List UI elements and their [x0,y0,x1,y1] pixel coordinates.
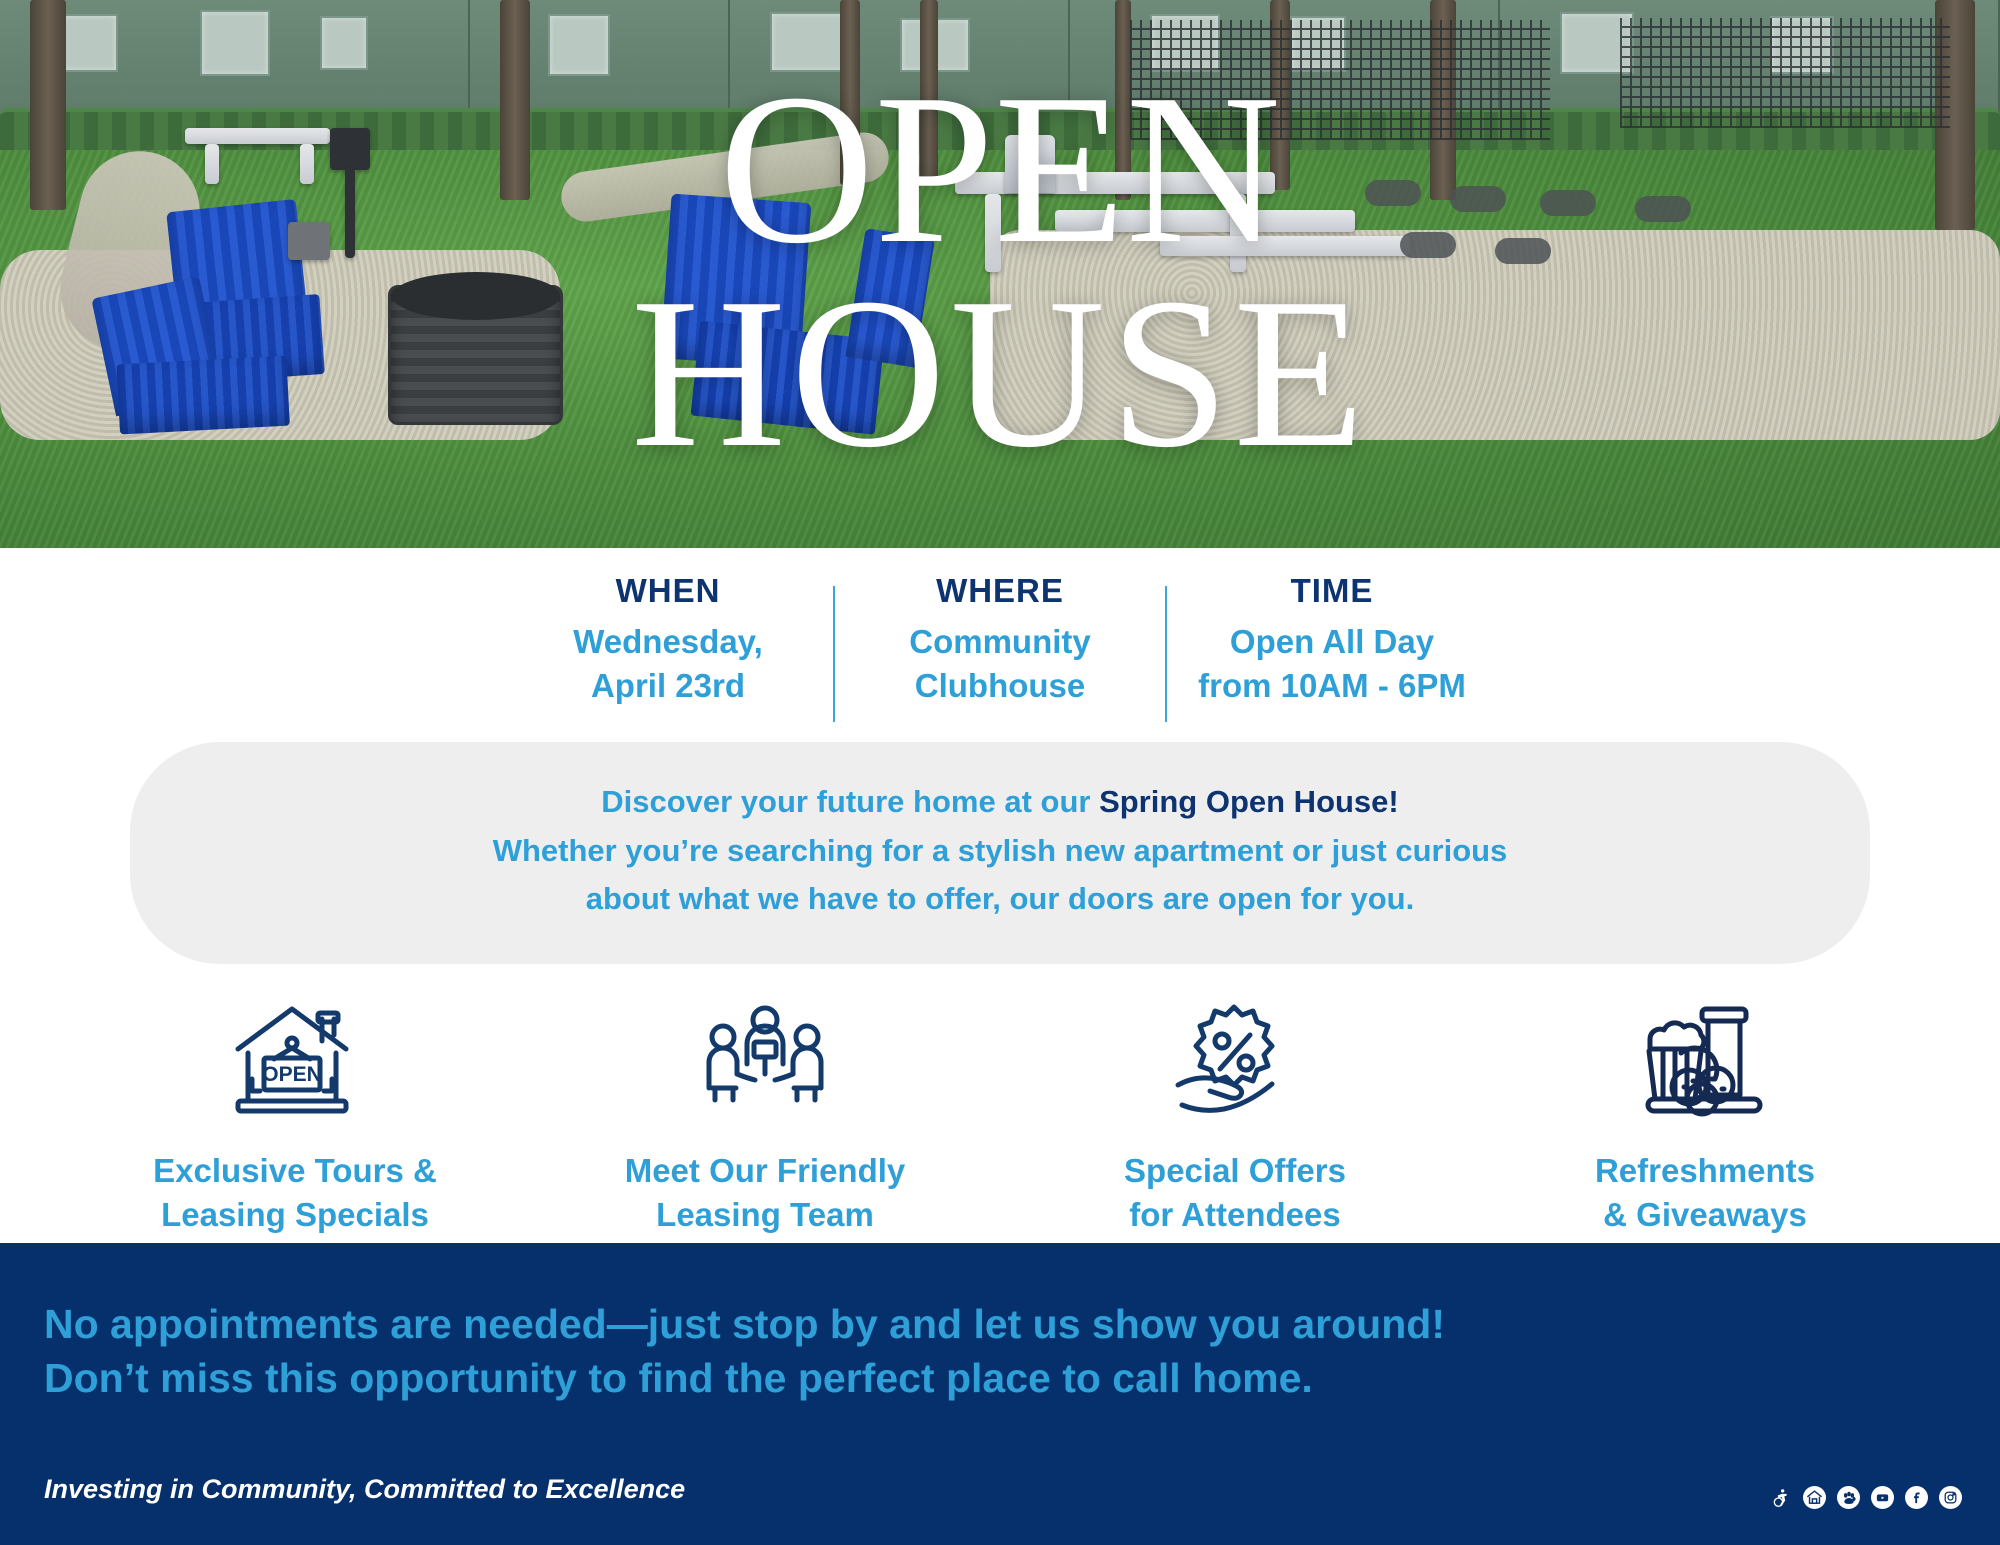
footer-cta-line-1: No appointments are needed—just stop by … [44,1297,1956,1351]
pet-friendly-paw-icon[interactable] [1837,1486,1860,1509]
blurb-line1-strong: Spring Open House! [1099,784,1399,819]
feature-line-2: & Giveaways [1595,1193,1815,1237]
facebook-icon[interactable] [1905,1486,1928,1509]
courtyard-photo [0,0,2000,548]
detail-when-line1: Wednesday, [573,620,763,664]
firepit-rim [392,272,560,320]
feature-caption: Exclusive Tours & Leasing Specials [153,1149,437,1237]
detail-where-line1: Community [909,620,1091,664]
mailbox [1005,135,1055,193]
intro-blurb: Discover your future home at our Spring … [130,742,1870,964]
feature-exclusive-tours: OPEN Exclusive Tours & Leasing Specials [60,998,530,1237]
detail-time-line2: from 10AM - 6PM [1198,664,1466,708]
feature-caption: Refreshments & Giveaways [1595,1149,1815,1237]
open-house-sign-icon: OPEN [230,998,360,1123]
detail-when-heading: WHEN [616,572,721,610]
leasing-team-people-icon [700,998,830,1123]
detail-time-heading: TIME [1291,572,1374,610]
detail-time-line1: Open All Day [1230,620,1434,664]
detail-when-line2: April 23rd [591,664,745,708]
detail-where-line2: Clubhouse [915,664,1086,708]
grill [330,128,370,170]
youtube-icon[interactable] [1871,1486,1894,1509]
feature-leasing-team: Meet Our Friendly Leasing Team [530,998,1000,1237]
blurb-line-1: Discover your future home at our Spring … [200,778,1800,827]
footer-tagline: Investing in Community, Committed to Exc… [44,1474,685,1505]
detail-where: WHERE Community Clubhouse [835,572,1165,707]
feature-line-1: Special Offers [1124,1149,1346,1193]
bucket [288,222,330,260]
feature-special-offers: Special Offers for Attendees [1000,998,1470,1237]
feature-caption: Meet Our Friendly Leasing Team [625,1149,906,1237]
event-details: WHEN Wednesday, April 23rd WHERE Communi… [0,548,2000,730]
feature-line-1: Refreshments [1595,1149,1815,1193]
feature-line-1: Meet Our Friendly [625,1149,906,1193]
wheelchair-accessible-icon[interactable] [1769,1486,1792,1509]
refreshments-popcorn-snacks-icon [1640,998,1770,1123]
hero-banner: OPEN HOUSE [0,0,2000,548]
feature-refreshments: Refreshments & Giveaways [1470,998,1940,1237]
open-house-flyer: OPEN HOUSE WHEN Wednesday, April 23rd WH… [0,0,2000,1545]
feature-line-1: Exclusive Tours & [153,1149,437,1193]
detail-when: WHEN Wednesday, April 23rd [503,572,833,707]
feature-line-2: Leasing Team [625,1193,906,1237]
blue-chair-seat [116,356,289,435]
footer: No appointments are needed—just stop by … [0,1243,2000,1545]
footer-cta-line-2: Don’t miss this opportunity to find the … [44,1351,1956,1405]
instagram-icon[interactable] [1939,1486,1962,1509]
grill-post [345,168,355,258]
feature-line-2: for Attendees [1124,1193,1346,1237]
detail-where-heading: WHERE [936,572,1064,610]
feature-caption: Special Offers for Attendees [1124,1149,1346,1237]
feature-list: OPEN Exclusive Tours & Leasing Specials [0,964,2000,1237]
svg-text:OPEN: OPEN [262,1063,322,1086]
blurb-line-3: about what we have to offer, our doors a… [200,875,1800,924]
equal-housing-opportunity-icon[interactable] [1803,1486,1826,1509]
blurb-line-2: Whether you’re searching for a stylish n… [200,827,1800,876]
blurb-line1-prefix: Discover your future home at our [601,784,1099,819]
detail-time: TIME Open All Day from 10AM - 6PM [1167,572,1497,707]
hand-holding-discount-badge-icon [1170,998,1300,1123]
social-links [1769,1486,1962,1509]
feature-line-2: Leasing Specials [153,1193,437,1237]
